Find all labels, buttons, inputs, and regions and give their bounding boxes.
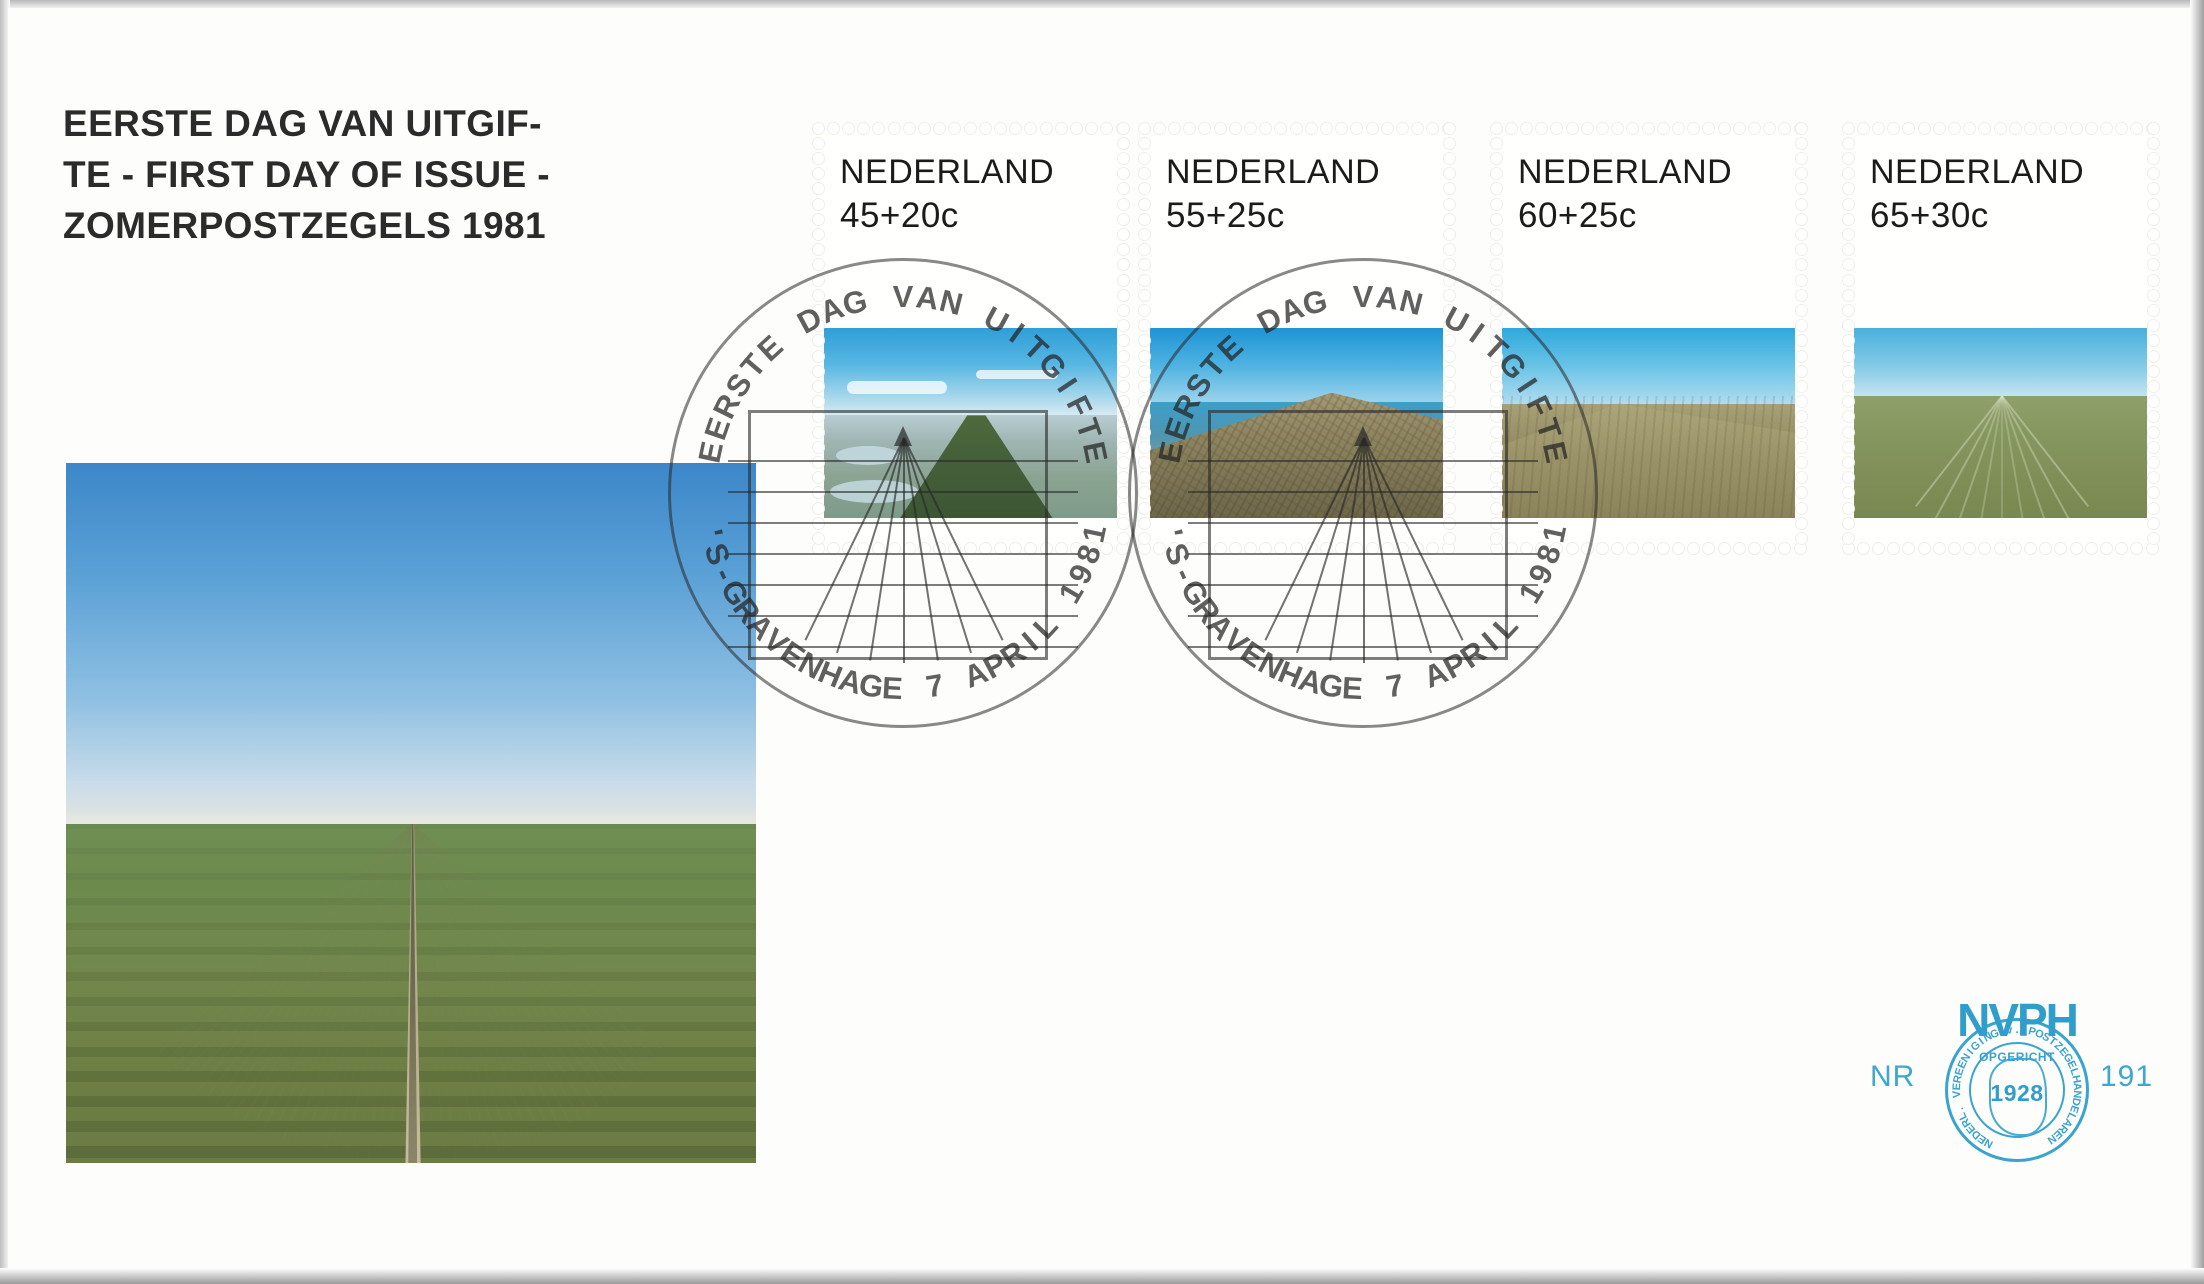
perforation-dot	[1118, 366, 1129, 377]
perforation-dot	[813, 472, 824, 483]
perforation-dot	[1275, 123, 1286, 134]
perforation-dot	[1796, 487, 1807, 498]
perforation-dot	[813, 305, 824, 316]
stamp-2-value: 55+25c	[1166, 194, 1380, 238]
postmark-char: A	[835, 661, 866, 702]
perforation-dot	[1169, 543, 1180, 554]
cover-title-line-3: ZOMERPOSTZEGELS 1981	[63, 200, 763, 251]
perforation-dot	[2086, 543, 2097, 554]
perforation-dot	[2101, 123, 2112, 134]
perforation-dot	[1919, 123, 1930, 134]
perforation-dot	[904, 123, 915, 134]
nvph-founded-label: OPGERICHT	[1969, 1050, 2065, 1064]
perforation-dot	[1796, 123, 1807, 134]
postmark-char: I	[1463, 316, 1491, 350]
perforation-dot	[1139, 244, 1150, 255]
perforation-dot	[1796, 518, 1807, 529]
perforation-dot	[1719, 543, 1730, 554]
furrow-line	[2001, 396, 2003, 518]
perforation-dot	[1306, 543, 1317, 554]
perforation-dot	[1734, 543, 1745, 554]
perforation-dot	[1491, 543, 1502, 554]
stamp-1-caption: NEDERLAND 45+20c	[840, 150, 1054, 238]
perforation-dot	[1491, 457, 1502, 468]
perforation-dot	[1086, 123, 1097, 134]
perforation-dot	[1444, 199, 1455, 210]
perforation-dot	[1919, 543, 1930, 554]
perforation-dot	[1796, 351, 1807, 362]
postmark-field-line	[728, 646, 1078, 648]
perforation-dot	[1843, 543, 1854, 554]
perforation-dot	[1858, 123, 1869, 134]
postmark-char: E	[751, 328, 791, 369]
perforation-dot	[813, 244, 824, 255]
stamp-4[interactable]: NEDERLAND 65+30c	[1848, 128, 2153, 548]
perforation-dot	[1199, 543, 1210, 554]
perforation-dot	[1041, 543, 1052, 554]
perforation-dot	[1351, 543, 1362, 554]
perforation-dot	[1444, 366, 1455, 377]
perforation-dot	[1260, 543, 1271, 554]
perforation-dot	[1118, 229, 1129, 240]
perforation-dot	[2148, 153, 2159, 164]
perforation-dot	[1843, 168, 1854, 179]
perforation-dot	[1796, 320, 1807, 331]
perforation-dot	[2055, 543, 2066, 554]
postmark-char: E	[774, 634, 811, 675]
perforation-dot	[1444, 442, 1455, 453]
postmark-char: N	[792, 645, 829, 687]
perforation-dot	[1796, 366, 1807, 377]
perforation-dot	[2010, 123, 2021, 134]
perforation-dot	[1612, 123, 1623, 134]
perforation-dot	[889, 543, 900, 554]
perforation-dot	[813, 335, 824, 346]
perforation-dot	[1056, 123, 1067, 134]
perforation-dot	[813, 199, 824, 210]
perforation-dot	[1382, 123, 1393, 134]
perforation-dot	[1139, 229, 1150, 240]
perforation-dot	[1351, 123, 1362, 134]
perforation-dot	[1444, 244, 1455, 255]
perforation-dot	[1118, 214, 1129, 225]
perforation-dot	[1118, 335, 1129, 346]
postmark-char: A	[1199, 607, 1241, 648]
perforation-dot	[1491, 472, 1502, 483]
perforation-dot	[2148, 123, 2159, 134]
postmark-char: 7	[1383, 667, 1406, 705]
perforation-dot	[873, 543, 884, 554]
perforation-dot	[1491, 290, 1502, 301]
nvph-ring-char: .	[2015, 1024, 2018, 1036]
perforation-dot	[1582, 123, 1593, 134]
perforation-dot	[1843, 427, 1854, 438]
perforation-dot	[1321, 123, 1332, 134]
perforation-dot	[1118, 275, 1129, 286]
perforation-dot	[1444, 305, 1455, 316]
perforation-dot	[1397, 123, 1408, 134]
stamp-1-cloud	[847, 381, 947, 394]
perforation-dot	[1843, 335, 1854, 346]
perforation-dot	[1139, 533, 1150, 544]
perforation-dot	[1491, 153, 1502, 164]
perforation-dot	[1118, 472, 1129, 483]
perforation-dot	[1010, 123, 1021, 134]
perforation-dot	[2148, 487, 2159, 498]
first-day-cover-page: EERSTE DAG VAN UITGIF- TE - FIRST DAY OF…	[0, 0, 2204, 1284]
postmark-char: E	[881, 670, 904, 707]
postmark-char: N	[1252, 645, 1289, 687]
perforation-dot	[1843, 503, 1854, 514]
perforation-dot	[949, 123, 960, 134]
perforation-dot	[813, 411, 824, 422]
stamp-1-country: NEDERLAND	[840, 150, 1054, 194]
perforation-dot	[2148, 305, 2159, 316]
perforation-dot	[1703, 543, 1714, 554]
perforation-dot	[1491, 533, 1502, 544]
perforation-dot	[2101, 543, 2112, 554]
perforation-dot	[813, 168, 824, 179]
perforation-dot	[1491, 244, 1502, 255]
perforation-dot	[1979, 543, 1990, 554]
perforation-dot	[1184, 543, 1195, 554]
postmark-char: 1	[1512, 577, 1552, 610]
perforation-dot	[1796, 244, 1807, 255]
perforation-dot	[1873, 123, 1884, 134]
perforation-dot	[1169, 123, 1180, 134]
perforation-dot	[813, 320, 824, 331]
nvph-ring-char: V	[1951, 1090, 1963, 1098]
perforation-dot	[1367, 123, 1378, 134]
perforation-dot	[1796, 396, 1807, 407]
perforation-dot	[2055, 123, 2066, 134]
perforation-dot	[2148, 472, 2159, 483]
perforation-dot	[1688, 543, 1699, 554]
scan-edge-bottom	[0, 1268, 2204, 1284]
perforation-dot	[843, 123, 854, 134]
furrow-line	[1955, 396, 2002, 518]
perforation-dot	[813, 381, 824, 392]
perforation-dot	[1843, 244, 1854, 255]
perforation-dot	[1703, 123, 1714, 134]
perforation-dot	[1995, 543, 2006, 554]
perforation-dot	[1139, 457, 1150, 468]
perforation-dot	[919, 543, 930, 554]
perforation-dot	[1521, 543, 1532, 554]
perforation-dot	[2148, 518, 2159, 529]
stamp-1-value: 45+20c	[840, 194, 1054, 238]
perforation-dot	[1444, 168, 1455, 179]
perforation-dot	[1118, 457, 1129, 468]
perforation-dot	[1139, 351, 1150, 362]
perforation-dot	[1843, 305, 1854, 316]
perforation-dot	[2147, 543, 2158, 554]
perforation-dot	[1306, 123, 1317, 134]
perforation-dot	[1796, 457, 1807, 468]
perforation-dot	[1118, 487, 1129, 498]
perforation-dot	[1444, 183, 1455, 194]
stamp-1[interactable]: NEDERLAND 45+20c	[818, 128, 1123, 548]
perforation-dot	[1796, 138, 1807, 149]
stamp-4-country: NEDERLAND	[1870, 150, 2084, 194]
perforation-dot	[1658, 123, 1669, 134]
perforation-dot	[1779, 543, 1790, 554]
postmark-char: A	[959, 654, 993, 696]
postmark-char: P	[978, 645, 1013, 687]
perforation-dot	[1139, 123, 1150, 134]
perforation-dot	[828, 543, 839, 554]
perforation-dot	[1843, 442, 1854, 453]
perforation-dot	[813, 543, 824, 554]
postmark-char	[908, 671, 919, 707]
perforation-dot	[1673, 123, 1684, 134]
envelope-front: EERSTE DAG VAN UITGIF- TE - FIRST DAY OF…	[8, 8, 2190, 1268]
perforation-dot	[1444, 259, 1455, 270]
perforation-dot	[1491, 183, 1502, 194]
perforation-dot	[813, 123, 824, 134]
postmark-char: L	[1486, 608, 1525, 646]
stamp-3-country: NEDERLAND	[1518, 150, 1732, 194]
perforation-dot	[1118, 259, 1129, 270]
perforation-dot	[1443, 543, 1454, 554]
perforation-dot	[1230, 123, 1241, 134]
perforation-dot	[1949, 543, 1960, 554]
perforation-dot	[1444, 275, 1455, 286]
perforation-dot	[1491, 168, 1502, 179]
stamp-1-pool	[830, 480, 918, 503]
perforation-dot	[1995, 123, 2006, 134]
perforation-dot	[813, 518, 824, 529]
perforation-dot	[2025, 543, 2036, 554]
perforation-dot	[2148, 427, 2159, 438]
stamp-3-caption: NEDERLAND 60+25c	[1518, 150, 1732, 238]
perforation-dot	[1551, 123, 1562, 134]
perforation-dot	[2086, 123, 2097, 134]
perforation-dot	[919, 123, 930, 134]
perforation-dot	[1491, 381, 1502, 392]
perforation-dot	[1025, 123, 1036, 134]
nvph-nr-label: NR	[1870, 1060, 1915, 1094]
perforation-dot	[980, 123, 991, 134]
perforation-dot	[995, 543, 1006, 554]
perforation-dot	[1843, 320, 1854, 331]
perforation-dot	[1796, 259, 1807, 270]
postmark-char: T	[734, 347, 774, 385]
perforation-dot	[1444, 290, 1455, 301]
perforation-dot	[1796, 153, 1807, 164]
perforation-dot	[2148, 275, 2159, 286]
cover-photograph	[66, 463, 756, 1163]
perforation-dot	[1118, 305, 1129, 316]
postmark-char: E	[692, 438, 732, 466]
perforation-dot	[1734, 123, 1745, 134]
perforation-dot	[2040, 123, 2051, 134]
perforation-dot	[2148, 457, 2159, 468]
perforation-dot	[813, 290, 824, 301]
perforation-dot	[1444, 229, 1455, 240]
perforation-dot	[1888, 543, 1899, 554]
stamp-1-cloud	[976, 370, 1058, 380]
perforation-dot	[813, 427, 824, 438]
stamp-4-image	[1854, 328, 2147, 518]
perforation-dot	[1444, 138, 1455, 149]
stamp-3[interactable]: NEDERLAND 60+25c	[1496, 128, 1801, 548]
perforation-dot	[1536, 543, 1547, 554]
postmark-char: 7	[923, 667, 946, 705]
nvph-nr-value: 191	[2100, 1060, 2153, 1094]
perforation-dot	[2148, 199, 2159, 210]
postmark-char: -	[1166, 562, 1203, 586]
perforation-dot	[1056, 543, 1067, 554]
perforation-dot	[1843, 381, 1854, 392]
perforation-dot	[1101, 543, 1112, 554]
perforation-dot	[2148, 533, 2159, 544]
postmark-char: A	[1419, 654, 1453, 696]
perforation-dot	[1764, 543, 1775, 554]
perforation-dot	[873, 123, 884, 134]
perforation-dot	[1934, 123, 1945, 134]
postmark-char: E	[1341, 670, 1364, 707]
perforation-dot	[934, 543, 945, 554]
perforation-dot	[1444, 533, 1455, 544]
perforation-dot	[995, 123, 1006, 134]
perforation-dot	[2116, 543, 2127, 554]
perforation-dot	[813, 153, 824, 164]
perforation-dot	[1796, 411, 1807, 422]
perforation-dot	[2148, 396, 2159, 407]
perforation-dot	[1764, 123, 1775, 134]
perforation-dot	[1215, 123, 1226, 134]
perforation-dot	[1643, 543, 1654, 554]
perforation-dot	[1336, 123, 1347, 134]
perforation-dot	[1444, 153, 1455, 164]
perforation-dot	[1796, 168, 1807, 179]
perforation-dot	[1041, 123, 1052, 134]
perforation-dot	[858, 123, 869, 134]
perforation-dot	[1444, 123, 1455, 134]
perforation-dot	[813, 366, 824, 377]
postmark-char: V	[1216, 622, 1255, 663]
postmark-char: R	[1454, 634, 1493, 676]
perforation-dot	[1199, 123, 1210, 134]
stamp-2[interactable]: NEDERLAND 55+25c	[1144, 128, 1449, 548]
perforation-dot	[1796, 183, 1807, 194]
perforation-dot	[1491, 199, 1502, 210]
perforation-dot	[1643, 123, 1654, 134]
perforation-dot	[1949, 123, 1960, 134]
photo-sky	[66, 463, 756, 827]
perforation-dot	[2148, 411, 2159, 422]
perforation-dot	[813, 183, 824, 194]
perforation-dot	[1444, 214, 1455, 225]
perforation-dot	[1139, 138, 1150, 149]
perforation-dot	[2148, 320, 2159, 331]
perforation-dot	[1843, 138, 1854, 149]
perforation-dot	[1796, 290, 1807, 301]
perforation-dot	[2148, 259, 2159, 270]
perforation-dot	[1139, 396, 1150, 407]
perforation-dot	[1444, 335, 1455, 346]
perforation-dot	[1139, 335, 1150, 346]
perforation-dot	[1612, 543, 1623, 554]
perforation-dot	[813, 229, 824, 240]
perforation-dot	[1444, 472, 1455, 483]
perforation-dot	[1139, 472, 1150, 483]
perforation-dot	[2025, 123, 2036, 134]
perforation-dot	[1101, 123, 1112, 134]
perforation-dot	[1139, 214, 1150, 225]
stamp-2-image	[1150, 328, 1443, 518]
perforation-dot	[2040, 543, 2051, 554]
perforation-dot	[1154, 543, 1165, 554]
nvph-logo: NVPH OPGERICHT 1928 NEDERL. VEREENIGING …	[1933, 996, 2101, 1164]
perforation-dot	[1979, 123, 1990, 134]
perforation-dot	[1397, 543, 1408, 554]
perforation-dot	[1444, 411, 1455, 422]
perforation-dot	[2148, 168, 2159, 179]
perforation-dot	[1118, 183, 1129, 194]
postmark-char	[775, 316, 803, 350]
perforation-dot	[1118, 290, 1129, 301]
perforation-dot	[2148, 442, 2159, 453]
perforation-dot	[1321, 543, 1332, 554]
perforation-dot	[1118, 427, 1129, 438]
perforation-dot	[1086, 543, 1097, 554]
perforation-dot	[965, 123, 976, 134]
perforation-dot	[1491, 518, 1502, 529]
perforation-dot	[1071, 543, 1082, 554]
perforation-dot	[1597, 123, 1608, 134]
postmark-char: P	[1438, 645, 1473, 687]
furrow-line	[1915, 396, 2003, 507]
perforation-dot	[1215, 543, 1226, 554]
perforation-dot	[1521, 123, 1532, 134]
perforation-dot	[1139, 503, 1150, 514]
perforation-dot	[1139, 290, 1150, 301]
perforation-dot	[2148, 351, 2159, 362]
perforation-dot	[1444, 518, 1455, 529]
perforation-dot	[1796, 214, 1807, 225]
postmark-field-line	[1188, 584, 1538, 586]
perforation-dot	[1551, 543, 1562, 554]
perforation-dot	[2148, 290, 2159, 301]
perforation-dot	[1964, 543, 1975, 554]
perforation-dot	[1427, 543, 1438, 554]
perforation-dot	[1843, 153, 1854, 164]
stamp-3-texture	[1502, 396, 1795, 518]
perforation-dot	[813, 457, 824, 468]
perforation-dot	[1843, 229, 1854, 240]
perforation-dot	[1118, 168, 1129, 179]
perforation-dot	[1843, 366, 1854, 377]
perforation-dot	[1139, 543, 1150, 554]
perforation-dot	[1118, 442, 1129, 453]
perforation-dot	[2148, 244, 2159, 255]
perforation-dot	[1139, 259, 1150, 270]
perforation-dot	[1444, 457, 1455, 468]
perforation-dot	[2071, 543, 2082, 554]
perforation-dot	[843, 543, 854, 554]
perforation-dot	[1567, 543, 1578, 554]
perforation-dot	[1139, 366, 1150, 377]
postmark-char: 9	[1061, 559, 1101, 590]
postmark-field-line	[728, 553, 1078, 555]
perforation-dot	[1010, 543, 1021, 554]
perforation-dot	[1888, 123, 1899, 134]
perforation-dot	[1749, 123, 1760, 134]
perforation-dot	[2071, 123, 2082, 134]
perforation-dot	[1506, 543, 1517, 554]
